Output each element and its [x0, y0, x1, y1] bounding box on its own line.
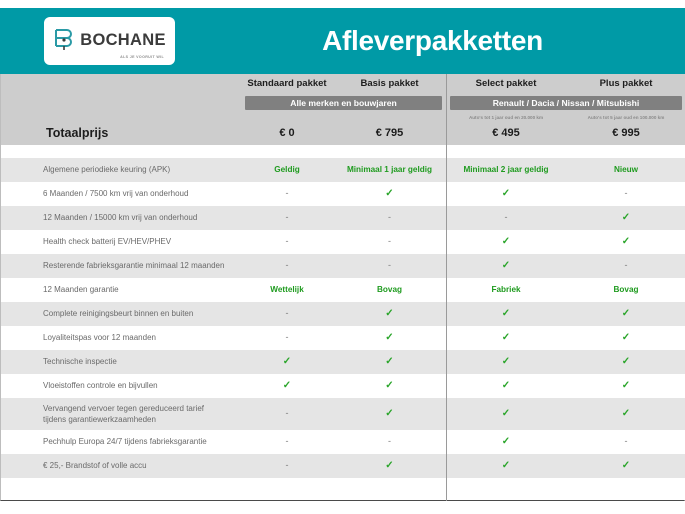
- cell-select: ✓: [446, 374, 566, 398]
- column-sub-select: Auto's tot 1 jaar oud en 20.000 km: [446, 111, 566, 123]
- table-header: Standaard pakket Basis pakket Select pak…: [1, 74, 685, 158]
- price-plus: € 995: [566, 123, 685, 145]
- row-label-line1: Vervangend vervoer tegen gereduceerd tar…: [43, 403, 235, 414]
- cell-basis: ✓: [333, 454, 446, 478]
- header-names-row: Standaard pakket Basis pakket Select pak…: [1, 74, 685, 94]
- logo-tagline: ALS JE VOORUIT WIL: [120, 55, 164, 59]
- cell-plus: ✓: [566, 374, 685, 398]
- blank-cell: [566, 478, 685, 500]
- cell-standaard: ✓: [241, 374, 333, 398]
- page-banner: BOCHANE ALS JE VOORUIT WIL Afleverpakket…: [0, 8, 685, 74]
- table-footer-blank-row: [1, 478, 685, 500]
- check-icon: ✓: [622, 408, 630, 419]
- row-label: Algemene periodieke keuring (APK): [1, 158, 241, 182]
- column-header-standaard: Standaard pakket: [241, 74, 333, 94]
- blank-cell: [446, 478, 566, 500]
- check-icon: ✓: [502, 332, 510, 343]
- table-row: 12 Maanden / 15000 km vrij van onderhoud…: [1, 206, 685, 230]
- check-icon: ✓: [502, 408, 510, 419]
- cell-basis: -: [333, 230, 446, 254]
- dash-mark: -: [625, 188, 628, 198]
- check-icon: ✓: [622, 308, 630, 319]
- dash-mark: -: [286, 212, 289, 222]
- cell-plus: ✓: [566, 206, 685, 230]
- table-row: 12 Maanden garantieWettelijkBovagFabriek…: [1, 278, 685, 302]
- check-icon: ✓: [502, 236, 510, 247]
- cell-basis: ✓: [333, 182, 446, 206]
- check-icon: ✓: [283, 380, 291, 391]
- row-label: 6 Maanden / 7500 km vrij van onderhoud: [1, 182, 241, 206]
- cell-standaard: -: [241, 182, 333, 206]
- cell-select: ✓: [446, 350, 566, 374]
- cell-basis: Minimaal 1 jaar geldig: [333, 158, 446, 182]
- packages-table-wrap: Standaard pakket Basis pakket Select pak…: [0, 74, 685, 501]
- check-icon: ✓: [502, 436, 510, 447]
- row-label: Pechhulp Europa 24/7 tijdens fabrieksgar…: [1, 430, 241, 454]
- value-text: Fabriek: [491, 285, 520, 294]
- cell-basis: -: [333, 254, 446, 278]
- dash-mark: -: [286, 308, 289, 318]
- cell-plus: Bovag: [566, 278, 685, 302]
- check-icon: ✓: [502, 460, 510, 471]
- cell-standaard: Wettelijk: [241, 278, 333, 302]
- cell-select: ✓: [446, 302, 566, 326]
- blank-cell: [333, 478, 446, 500]
- dash-mark: -: [286, 260, 289, 270]
- cell-standaard: Geldig: [241, 158, 333, 182]
- cell-plus: -: [566, 182, 685, 206]
- dash-mark: -: [505, 212, 508, 222]
- check-icon: ✓: [502, 308, 510, 319]
- check-icon: ✓: [502, 260, 510, 271]
- row-label: Vloeistoffen controle en bijvullen: [1, 374, 241, 398]
- check-icon: ✓: [385, 308, 393, 319]
- header-empty-cell: [1, 74, 241, 94]
- logo-wordmark: BOCHANE: [80, 32, 166, 49]
- cell-standaard: ✓: [241, 350, 333, 374]
- check-icon: ✓: [622, 236, 630, 247]
- row-label: Loyaliteitspas voor 12 maanden: [1, 326, 241, 350]
- cell-standaard: -: [241, 302, 333, 326]
- cell-basis: -: [333, 430, 446, 454]
- table-row: Loyaliteitspas voor 12 maanden-✓✓✓: [1, 326, 685, 350]
- dash-mark: -: [286, 236, 289, 246]
- column-header-basis: Basis pakket: [333, 74, 446, 94]
- dash-mark: -: [388, 436, 391, 446]
- cell-plus: ✓: [566, 350, 685, 374]
- dash-mark: -: [388, 260, 391, 270]
- price-standaard: € 0: [241, 123, 333, 145]
- value-text: Wettelijk: [270, 285, 304, 294]
- price-select: € 495: [446, 123, 566, 145]
- cell-plus: ✓: [566, 326, 685, 350]
- afleverpakketten-page: BOCHANE ALS JE VOORUIT WIL Afleverpakket…: [0, 0, 685, 514]
- cell-basis: ✓: [333, 374, 446, 398]
- totaalprijs-label: Totaalprijs: [1, 123, 241, 145]
- check-icon: ✓: [622, 212, 630, 223]
- header-spacer-row: [1, 145, 685, 158]
- package-group-divider: [446, 74, 447, 501]
- cell-plus: -: [566, 254, 685, 278]
- cell-select: ✓: [446, 398, 566, 430]
- dash-mark: -: [625, 260, 628, 270]
- value-text: Minimaal 2 jaar geldig: [463, 165, 548, 174]
- cell-standaard: -: [241, 430, 333, 454]
- column-header-select: Select pakket: [446, 74, 566, 94]
- packages-table: Standaard pakket Basis pakket Select pak…: [1, 74, 685, 500]
- check-icon: ✓: [385, 380, 393, 391]
- value-text: Bovag: [613, 285, 638, 294]
- cell-select: -: [446, 206, 566, 230]
- check-icon: ✓: [385, 460, 393, 471]
- cell-standaard: -: [241, 206, 333, 230]
- cell-standaard: -: [241, 254, 333, 278]
- group-pill-all-brands-cell: Alle merken en bouwjaren: [241, 94, 446, 111]
- check-icon: ✓: [502, 380, 510, 391]
- cell-standaard: -: [241, 326, 333, 350]
- dash-mark: -: [286, 408, 289, 418]
- dash-mark: -: [388, 236, 391, 246]
- value-text: Minimaal 1 jaar geldig: [347, 165, 432, 174]
- row-label-line2: tijdens garantiewerkzaamheden: [43, 414, 235, 425]
- value-text: Bovag: [377, 285, 402, 294]
- table-row: Complete reinigingsbeurt binnen en buite…: [1, 302, 685, 326]
- check-icon: ✓: [385, 188, 393, 199]
- check-icon: ✓: [385, 332, 393, 343]
- header-sub-empty: [1, 111, 241, 123]
- dash-mark: -: [286, 188, 289, 198]
- cell-plus: ✓: [566, 302, 685, 326]
- header-subtitle-row: Auto's tot 1 jaar oud en 20.000 km Auto'…: [1, 111, 685, 123]
- header-spacer-cell: [1, 145, 685, 158]
- cell-basis: ✓: [333, 326, 446, 350]
- cell-standaard: -: [241, 454, 333, 478]
- cell-select: Fabriek: [446, 278, 566, 302]
- table-row: Pechhulp Europa 24/7 tijdens fabrieksgar…: [1, 430, 685, 454]
- check-icon: ✓: [622, 356, 630, 367]
- table-row: Health check batterij EV/HEV/PHEV--✓✓: [1, 230, 685, 254]
- table-body: Algemene periodieke keuring (APK)GeldigM…: [1, 158, 685, 500]
- cell-basis: ✓: [333, 398, 446, 430]
- header-pill-row: Alle merken en bouwjaren Renault / Dacia…: [1, 94, 685, 111]
- value-text: Geldig: [274, 165, 299, 174]
- row-label: Health check batterij EV/HEV/PHEV: [1, 230, 241, 254]
- cell-plus: ✓: [566, 398, 685, 430]
- row-label: Complete reinigingsbeurt binnen en buite…: [1, 302, 241, 326]
- cell-basis: ✓: [333, 302, 446, 326]
- cell-basis: -: [333, 206, 446, 230]
- cell-plus: ✓: [566, 230, 685, 254]
- blank-cell: [241, 478, 333, 500]
- check-icon: ✓: [385, 408, 393, 419]
- cell-select: ✓: [446, 454, 566, 478]
- group-pill-all-brands: Alle merken en bouwjaren: [245, 96, 442, 110]
- header-price-row: Totaalprijs € 0 € 795 € 495 € 995: [1, 123, 685, 145]
- cell-plus: Nieuw: [566, 158, 685, 182]
- column-sub-plus: Auto's tot 5 jaar oud en 100.000 km: [566, 111, 685, 123]
- check-icon: ✓: [502, 356, 510, 367]
- bochane-logo[interactable]: BOCHANE ALS JE VOORUIT WIL: [44, 17, 175, 65]
- row-label: 12 Maanden garantie: [1, 278, 241, 302]
- cell-select: ✓: [446, 254, 566, 278]
- page-title: Afleverpakketten: [190, 25, 675, 57]
- table-row: Vervangend vervoer tegen gereduceerd tar…: [1, 398, 685, 430]
- table-row: Technische inspectie✓✓✓✓: [1, 350, 685, 374]
- cell-select: Minimaal 2 jaar geldig: [446, 158, 566, 182]
- check-icon: ✓: [622, 380, 630, 391]
- group-pill-brands-cell: Renault / Dacia / Nissan / Mitsubishi: [446, 94, 685, 111]
- check-icon: ✓: [622, 460, 630, 471]
- row-label: 12 Maanden / 15000 km vrij van onderhoud: [1, 206, 241, 230]
- group-pill-brands: Renault / Dacia / Nissan / Mitsubishi: [450, 96, 682, 110]
- table-row: Resterende fabrieksgarantie minimaal 12 …: [1, 254, 685, 278]
- cell-plus: ✓: [566, 454, 685, 478]
- cell-select: ✓: [446, 182, 566, 206]
- table-row: Algemene periodieke keuring (APK)GeldigM…: [1, 158, 685, 182]
- dash-mark: -: [286, 460, 289, 470]
- table-row: 6 Maanden / 7500 km vrij van onderhoud-✓…: [1, 182, 685, 206]
- top-white-strip: [0, 0, 685, 8]
- cell-basis: Bovag: [333, 278, 446, 302]
- column-sub-standaard: [241, 111, 333, 123]
- dash-mark: -: [286, 436, 289, 446]
- check-icon: ✓: [502, 188, 510, 199]
- check-icon: ✓: [385, 356, 393, 367]
- dash-mark: -: [388, 212, 391, 222]
- cell-select: ✓: [446, 230, 566, 254]
- row-label: Vervangend vervoer tegen gereduceerd tar…: [1, 398, 241, 430]
- column-header-plus: Plus pakket: [566, 74, 685, 94]
- row-label: Technische inspectie: [1, 350, 241, 374]
- column-sub-basis: [333, 111, 446, 123]
- cell-plus: -: [566, 430, 685, 454]
- cell-select: ✓: [446, 326, 566, 350]
- cell-standaard: -: [241, 398, 333, 430]
- value-text: Nieuw: [614, 165, 638, 174]
- header-pill-empty: [1, 94, 241, 111]
- cell-select: ✓: [446, 430, 566, 454]
- row-label: Resterende fabrieksgarantie minimaal 12 …: [1, 254, 241, 278]
- bochane-b-mark-icon: [53, 27, 75, 53]
- table-row: € 25,- Brandstof of volle accu-✓✓✓: [1, 454, 685, 478]
- dash-mark: -: [625, 436, 628, 446]
- blank-cell: [1, 478, 241, 500]
- cell-standaard: -: [241, 230, 333, 254]
- check-icon: ✓: [283, 356, 291, 367]
- table-row: Vloeistoffen controle en bijvullen✓✓✓✓: [1, 374, 685, 398]
- dash-mark: -: [286, 332, 289, 342]
- price-basis: € 795: [333, 123, 446, 145]
- check-icon: ✓: [622, 332, 630, 343]
- cell-basis: ✓: [333, 350, 446, 374]
- row-label: € 25,- Brandstof of volle accu: [1, 454, 241, 478]
